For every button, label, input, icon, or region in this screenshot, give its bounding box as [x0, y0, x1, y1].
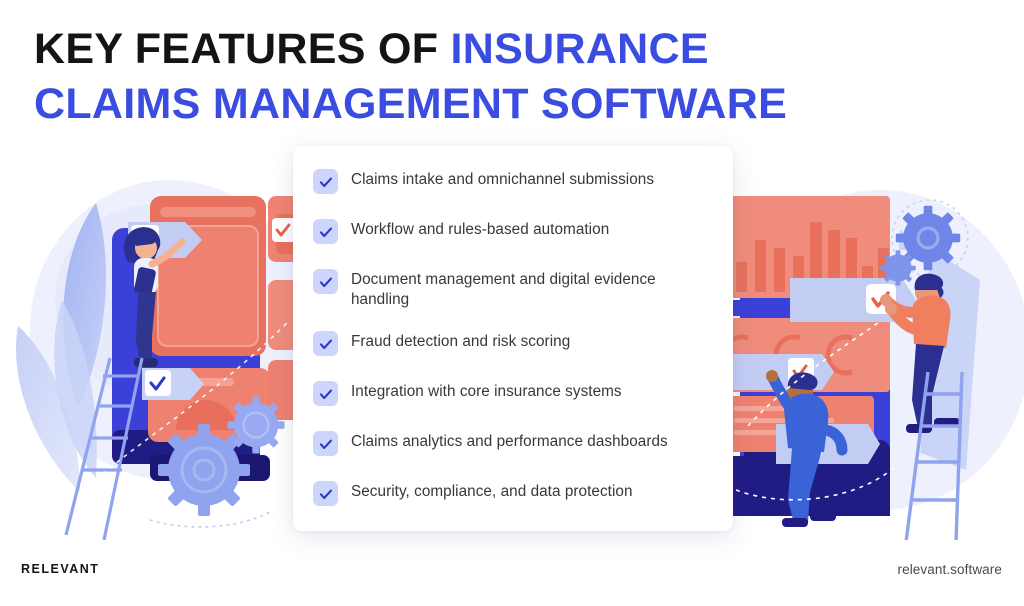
checkbox-checked-icon[interactable] [313, 481, 338, 506]
ladder [906, 372, 962, 542]
leaf-shape [16, 326, 80, 492]
check-tag [142, 368, 204, 400]
leaf-shape [54, 300, 97, 478]
gear-icon [880, 250, 915, 285]
list-item[interactable]: Claims analytics and performance dashboa… [309, 430, 717, 480]
person-figure [766, 370, 842, 527]
list-item-label: Workflow and rules-based automation [351, 218, 609, 240]
checkbox-checked-icon[interactable] [313, 431, 338, 456]
bar-chart [736, 222, 889, 292]
title-line-1: KEY FEATURES OF INSURANCE [34, 22, 974, 77]
ladder [66, 358, 142, 540]
list-item[interactable]: Fraud detection and risk scoring [309, 330, 717, 380]
leaf-shape [63, 203, 106, 408]
list-item-label: Claims intake and omnichannel submission… [351, 168, 654, 190]
checkbox-checked-icon[interactable] [313, 331, 338, 356]
title-part-dark: KEY FEATURES OF [34, 25, 451, 73]
page-title: KEY FEATURES OF INSURANCE CLAIMS MANAGEM… [34, 22, 974, 132]
gear-icon [158, 424, 250, 516]
list-item[interactable]: Integration with core insurance systems [309, 380, 717, 430]
infographic-canvas: KEY FEATURES OF INSURANCE CLAIMS MANAGEM… [0, 0, 1024, 606]
checkbox-checked-icon[interactable] [313, 219, 338, 244]
checkbox-checked-icon[interactable] [313, 169, 338, 194]
checkbox-checked-icon[interactable] [313, 269, 338, 294]
person-figure [124, 227, 182, 367]
check-tag [724, 354, 834, 390]
list-item-label: Fraud detection and risk scoring [351, 330, 570, 352]
list-item-label: Security, compliance, and data protectio… [351, 480, 633, 502]
list-item[interactable]: Claims intake and omnichannel submission… [309, 168, 717, 218]
title-line-2: CLAIMS MANAGEMENT SOFTWARE [34, 77, 974, 132]
list-item-label: Document management and digital evidence… [351, 268, 713, 311]
left-scene-group [16, 180, 314, 540]
list-item-label: Claims analytics and performance dashboa… [351, 430, 668, 452]
list-item[interactable]: Workflow and rules-based automation [309, 218, 717, 268]
website-url[interactable]: relevant.software [898, 562, 1003, 577]
list-item[interactable]: Document management and digital evidence… [309, 268, 717, 330]
list-item[interactable]: Security, compliance, and data protectio… [309, 480, 717, 530]
title-part-accent: INSURANCE [451, 25, 709, 73]
gear-icon [896, 206, 960, 270]
check-tag [790, 278, 916, 322]
checkbox-checked-icon[interactable] [313, 381, 338, 406]
gear-icon [227, 396, 284, 453]
check-tag [776, 424, 880, 464]
person-figure [880, 274, 960, 433]
check-tag [128, 222, 202, 258]
list-item-label: Integration with core insurance systems [351, 380, 622, 402]
features-card: Claims intake and omnichannel submission… [293, 146, 733, 531]
right-scene-group [724, 190, 1024, 542]
brand-logo: RELEVANT [21, 562, 99, 576]
